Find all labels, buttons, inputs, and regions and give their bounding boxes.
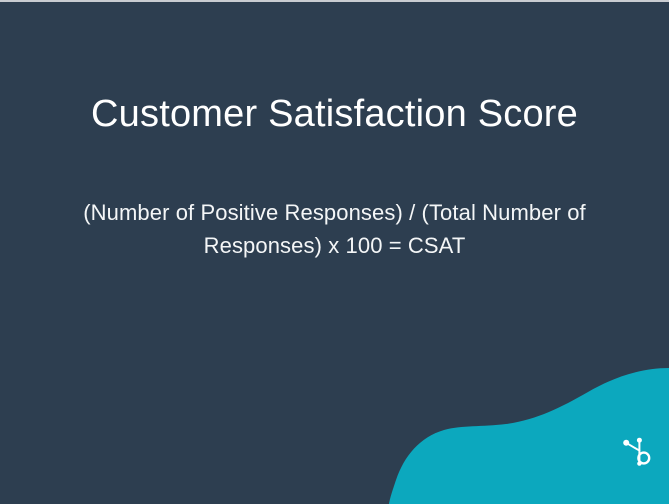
slide-canvas: Customer Satisfaction Score (Number of P… xyxy=(0,0,669,504)
page-title: Customer Satisfaction Score xyxy=(0,88,669,140)
hubspot-sprocket-icon xyxy=(622,437,652,469)
formula-text: (Number of Positive Responses) / (Total … xyxy=(50,196,619,262)
slide-content: Customer Satisfaction Score (Number of P… xyxy=(0,0,669,504)
